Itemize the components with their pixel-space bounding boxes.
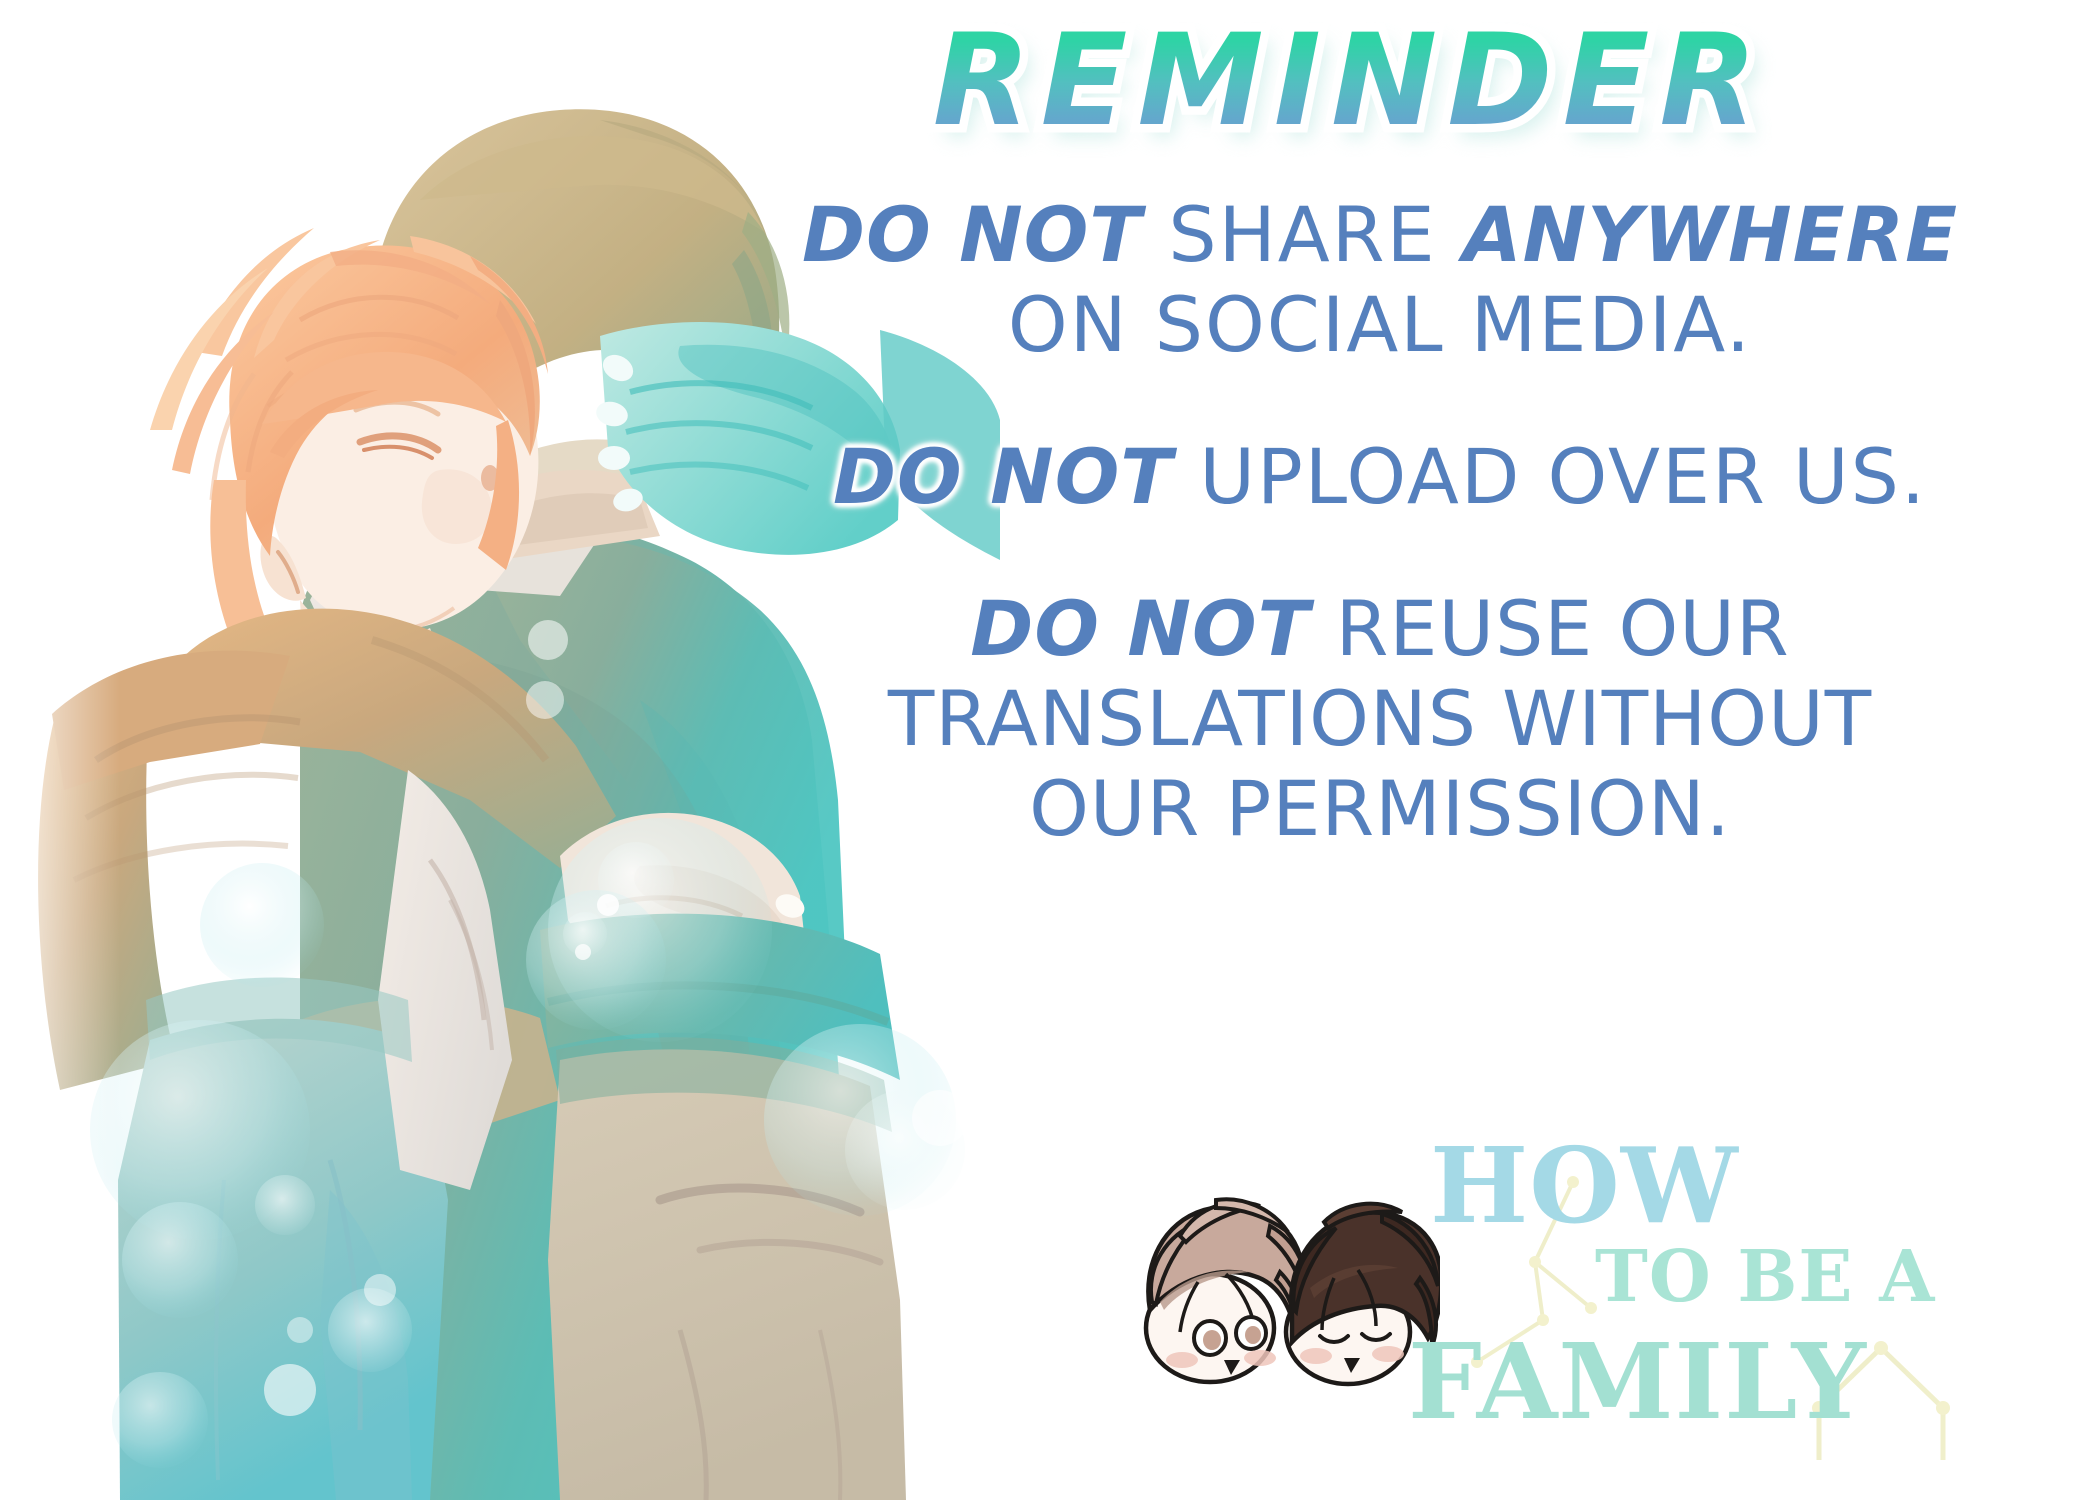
rule-paragraph-3: DO NOT REUSE OUR TRANSLATIONS WITHOUT OU… <box>700 584 2060 854</box>
rule-line: OUR PERMISSION. <box>700 764 2060 854</box>
emphasis-do-not: DO NOT <box>833 432 1173 521</box>
rule-line: DO NOT REUSE OUR <box>700 584 2060 674</box>
rule-line: ON SOCIAL MEDIA. <box>700 280 2060 370</box>
rule-paragraph-1: DO NOT SHARE ANYWHERE ON SOCIAL MEDIA. <box>700 190 2060 370</box>
chibi-heads <box>1120 1160 1440 1410</box>
emphasis-do-not: DO NOT <box>802 190 1142 279</box>
title-fill-layer: REMINDER <box>760 6 1940 154</box>
reminder-rules: DO NOT SHARE ANYWHERE ON SOCIAL MEDIA. D… <box>700 190 2060 854</box>
rule-text: UPLOAD OVER US. <box>1173 432 1927 521</box>
rule-text: REUSE OUR <box>1310 584 1789 673</box>
rule-paragraph-2: DO NOT UPLOAD OVER US. <box>700 432 2060 522</box>
series-logo: HOW TO BE A FAMILY <box>1120 1130 2080 1470</box>
rule-text: TRANSLATIONS WITHOUT <box>888 674 1872 763</box>
rule-text: SHARE <box>1142 190 1463 279</box>
rule-text: ON SOCIAL MEDIA. <box>1008 280 1752 369</box>
chibi-head-left <box>1146 1199 1307 1382</box>
emphasis-anywhere: ANYWHERE <box>1463 190 1958 279</box>
rule-text: OUR PERMISSION. <box>1029 764 1731 853</box>
logo-line-family: FAMILY <box>1408 1320 1867 1443</box>
logo-wordmark: HOW TO BE A FAMILY <box>1420 1130 2060 1450</box>
rule-line: TRANSLATIONS WITHOUT <box>700 674 2060 764</box>
rule-line: DO NOT SHARE ANYWHERE <box>700 190 2060 280</box>
rule-line: DO NOT UPLOAD OVER US. <box>700 432 2060 522</box>
logo-line-to-be-a: TO BE A <box>1595 1234 1935 1318</box>
emphasis-do-not: DO NOT <box>970 584 1310 673</box>
poster-title: REMINDER REMINDER REMINDER <box>760 6 1940 156</box>
logo-line-how: HOW <box>1430 1124 1739 1247</box>
reminder-poster: REMINDER REMINDER REMINDER DO NOT SHARE … <box>0 0 2100 1500</box>
